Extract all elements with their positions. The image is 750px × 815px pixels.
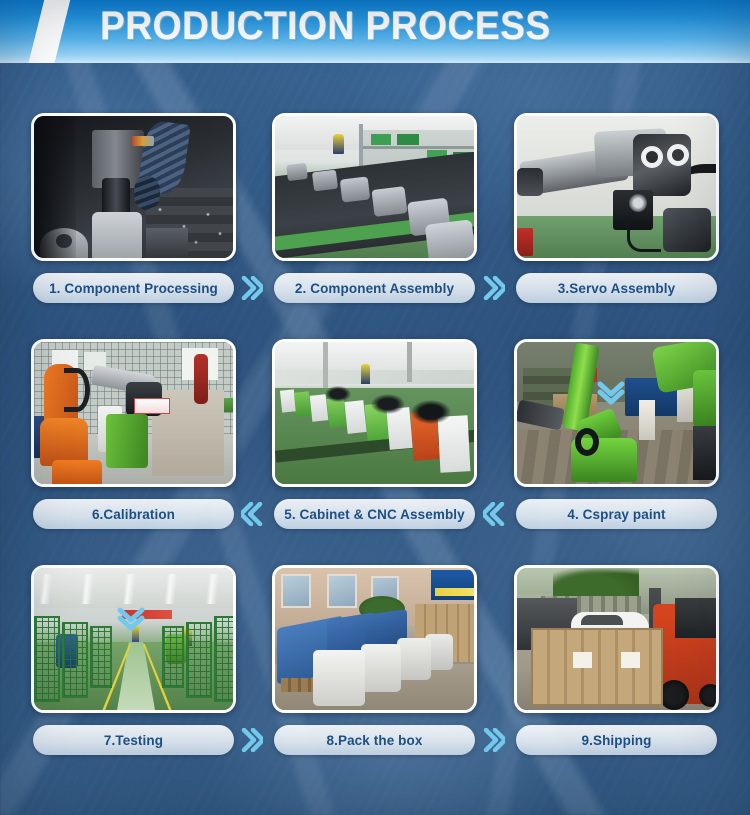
process-row-1: 1. Component Processing	[0, 113, 750, 339]
process-step-4[interactable]: 4. Cspray paint	[514, 339, 719, 565]
chevron-right-icon	[481, 727, 507, 753]
step-label-text: 5. Cabinet & CNC Assembly	[284, 507, 465, 522]
process-step-9[interactable]: 9.Shipping	[514, 565, 719, 791]
step-label-text: 1. Component Processing	[49, 281, 218, 296]
cnc-machining-photo	[34, 116, 233, 258]
step-photo-card	[514, 339, 719, 487]
chevron-left-icon	[239, 501, 265, 527]
forklift-crate-shipping-photo	[517, 568, 716, 710]
process-step-7[interactable]: 7.Testing	[31, 565, 236, 791]
step-photo-card	[514, 113, 719, 261]
step-label-text: 6.Calibration	[92, 507, 175, 522]
process-step-2[interactable]: 2. Component Assembly	[272, 113, 477, 339]
process-row-2: 6.Calibration	[0, 339, 750, 565]
testing-hall-photo	[34, 568, 233, 710]
step-photo-card	[272, 113, 477, 261]
step-label-pill[interactable]: 6.Calibration	[33, 499, 234, 529]
step-label-text: 8.Pack the box	[327, 733, 423, 748]
step-label-pill[interactable]: 4. Cspray paint	[516, 499, 717, 529]
production-process-infographic: PRODUCTION PROCESS 1. Component Processi…	[0, 0, 750, 815]
step-photo-card	[31, 339, 236, 487]
chevron-right-icon	[239, 727, 265, 753]
step-photo-card	[272, 339, 477, 487]
servo-robot-arm-photo	[517, 116, 716, 258]
step-photo-card	[514, 565, 719, 713]
step-label-text: 7.Testing	[104, 733, 163, 748]
step-label-pill[interactable]: 1. Component Processing	[33, 273, 234, 303]
process-steps-grid: 1. Component Processing	[0, 63, 750, 815]
step-label-pill[interactable]: 5. Cabinet & CNC Assembly	[274, 499, 475, 529]
process-step-1[interactable]: 1. Component Processing	[31, 113, 236, 339]
chevron-right-icon	[481, 275, 507, 301]
page-header: PRODUCTION PROCESS	[0, 0, 750, 63]
step-label-pill[interactable]: 2. Component Assembly	[274, 273, 475, 303]
green-robot-spray-paint-photo	[517, 342, 716, 484]
step-photo-card	[272, 565, 477, 713]
chevron-down-icon	[116, 607, 146, 633]
step-photo-card	[31, 565, 236, 713]
process-row-3: 7.Testing	[0, 565, 750, 791]
step-label-text: 4. Cspray paint	[567, 507, 665, 522]
chevron-down-icon	[596, 381, 626, 407]
process-step-8[interactable]: 8.Pack the box	[272, 565, 477, 791]
step-label-pill[interactable]: 8.Pack the box	[274, 725, 475, 755]
calibration-orange-robot-photo	[34, 342, 233, 484]
step-label-pill[interactable]: 3.Servo Assembly	[516, 273, 717, 303]
step-label-text: 9.Shipping	[582, 733, 652, 748]
step-label-pill[interactable]: 9.Shipping	[516, 725, 717, 755]
step-label-pill[interactable]: 7.Testing	[33, 725, 234, 755]
chevron-left-icon	[481, 501, 507, 527]
slash-accent-icon	[25, 0, 72, 63]
process-step-6[interactable]: 6.Calibration	[31, 339, 236, 565]
cabinet-cnc-assembly-photo	[275, 342, 474, 484]
step-photo-card	[31, 113, 236, 261]
step-label-text: 3.Servo Assembly	[558, 281, 675, 296]
process-step-3[interactable]: 3.Servo Assembly	[514, 113, 719, 339]
packing-wrapped-goods-photo	[275, 568, 474, 710]
page-title: PRODUCTION PROCESS	[100, 4, 551, 49]
chevron-right-icon	[239, 275, 265, 301]
component-assembly-line-photo	[275, 116, 474, 258]
process-step-5[interactable]: 5. Cabinet & CNC Assembly	[272, 339, 477, 565]
step-label-text: 2. Component Assembly	[295, 281, 454, 296]
